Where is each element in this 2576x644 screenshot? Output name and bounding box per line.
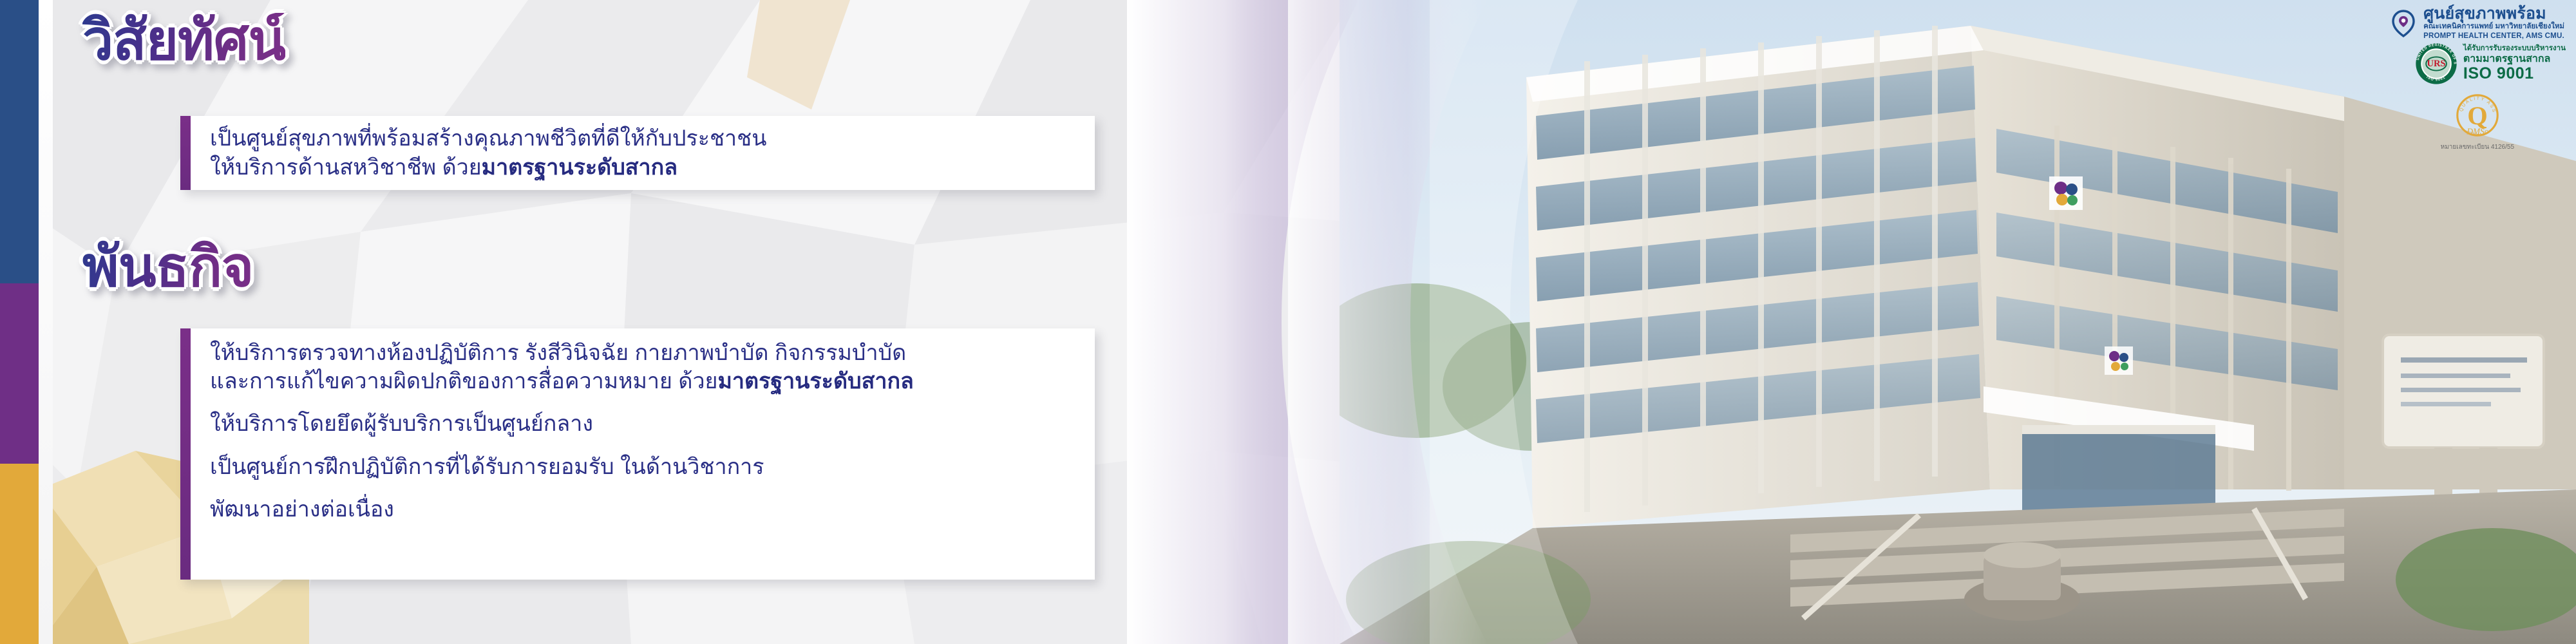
mission-item-5-text: พัฒนาอย่างต่อเนื่อง: [210, 497, 394, 522]
building-photo: [1340, 0, 2576, 644]
mission-heading: พันธกิจ: [82, 240, 253, 295]
iso-line-3: ISO 9001: [2463, 65, 2566, 83]
mission-item-1-text: ให้บริการตรวจทางห้องปฏิบัติการ รังสีวินิ…: [210, 341, 906, 365]
mission-item-1-line-1: ให้บริการตรวจทางห้องปฏิบัติการ รังสีวินิ…: [210, 339, 1078, 367]
mission-card: ให้บริการตรวจทางห้องปฏิบัติการ รังสีวินิ…: [180, 328, 1095, 580]
organization-logo-block: ศูนย์สุขภาพพร้อม คณะเทคนิคการแพทย์ มหาวิ…: [2307, 5, 2564, 41]
vision-line-1: เป็นศูนย์สุขภาพที่พร้อมสร้างคุณภาพชีวิตท…: [210, 124, 1078, 153]
left-white-stripe: [39, 0, 53, 644]
prompt-health-center-logo-icon: [2389, 8, 2418, 38]
q-dmsc-seal-icon: Q DMSc QUALITY ASSURANCE: [2452, 90, 2503, 140]
left-color-stripe: [0, 0, 39, 644]
svg-text:Q: Q: [2467, 101, 2488, 130]
iso-certification-badge: URS UNITED REGISTRAR OF SYSTEMS ISO 9001…: [2415, 43, 2566, 85]
urs-seal-icon: URS UNITED REGISTRAR OF SYSTEMS ISO 9001: [2415, 43, 2458, 85]
mission-item-2-text: และการแก้ไขความผิดปกติของการสื่อความหมาย…: [210, 369, 717, 393]
q-badge-registration-number: หมายเลขทะเบียน 4126/55: [2441, 142, 2514, 152]
logo-row: ศูนย์สุขภาพพร้อม คณะเทคนิคการแพทย์ มหาวิ…: [2307, 5, 2564, 41]
iso-line-1: ได้รับการรับรองระบบบริหารงาน: [2463, 44, 2566, 53]
vision-card: เป็นศูนย์สุขภาพที่พร้อมสร้างคุณภาพชีวิตท…: [180, 116, 1095, 190]
mission-card-accent-bar: [180, 328, 191, 580]
mission-card-body: ให้บริการตรวจทางห้องปฏิบัติการ รังสีวินิ…: [191, 328, 1095, 580]
logo-title-english: PROMPT HEALTH CENTER, AMS CMU.: [2423, 32, 2564, 41]
svg-text:DMSc: DMSc: [2466, 127, 2488, 137]
vision-line-2-text: ให้บริการด้านสหวิชาชีพ ด้วย: [210, 155, 482, 180]
mission-item-1-line-2: และการแก้ไขความผิดปกติของการสื่อความหมาย…: [210, 367, 1078, 395]
mission-item-3: ให้บริการโดยยึดผู้รับบริการเป็นศูนย์กลาง: [210, 410, 1078, 438]
mission-item-5: พัฒนาอย่างต่อเนื่อง: [210, 495, 1078, 524]
logo-subtitle-thai: คณะเทคนิคการแพทย์ มหาวิทยาลัยเชียงใหม่: [2423, 22, 2564, 31]
iso-text-group: ได้รับการรับรองระบบบริหารงาน ตามมาตรฐานส…: [2463, 44, 2566, 83]
vision-line-2-emphasis: มาตรฐานระดับสากล: [482, 155, 677, 180]
mission-item-4: เป็นศูนย์การฝึกปฏิบัติการที่ได้รับการยอม…: [210, 453, 1078, 481]
vision-card-body: เป็นศูนย์สุขภาพที่พร้อมสร้างคุณภาพชีวิตท…: [191, 116, 1095, 190]
quality-assurance-badge: Q DMSc QUALITY ASSURANCE หมายเลขทะเบียน …: [2441, 90, 2514, 152]
mission-item-group-1: ให้บริการตรวจทางห้องปฏิบัติการ รังสีวินิ…: [210, 339, 1078, 395]
logo-text-group: ศูนย์สุขภาพพร้อม คณะเทคนิคการแพทย์ มหาวิ…: [2423, 5, 2564, 41]
vision-heading: วิสัยทัศน์: [82, 13, 285, 68]
svg-text:URS: URS: [2427, 59, 2445, 69]
logo-title-thai: ศูนย์สุขภาพพร้อม: [2423, 5, 2564, 22]
iso-line-2: ตามมาตรฐานสากล: [2463, 53, 2566, 65]
vision-card-accent-bar: [180, 116, 191, 190]
promotional-banner: วิสัยทัศน์ พันธกิจ เป็นศูนย์สุขภาพที่พร้…: [0, 0, 2576, 644]
vision-line-1-text: เป็นศูนย์สุขภาพที่พร้อมสร้างคุณภาพชีวิตท…: [210, 126, 766, 151]
mission-item-2-emphasis: มาตรฐานระดับสากล: [717, 369, 913, 393]
mission-item-3-text: ให้บริการโดยยึดผู้รับบริการเป็นศูนย์กลาง: [210, 412, 593, 436]
vision-line-2: ให้บริการด้านสหวิชาชีพ ด้วยมาตรฐานระดับส…: [210, 153, 1078, 182]
mission-item-4-text: เป็นศูนย์การฝึกปฏิบัติการที่ได้รับการยอม…: [210, 455, 764, 479]
